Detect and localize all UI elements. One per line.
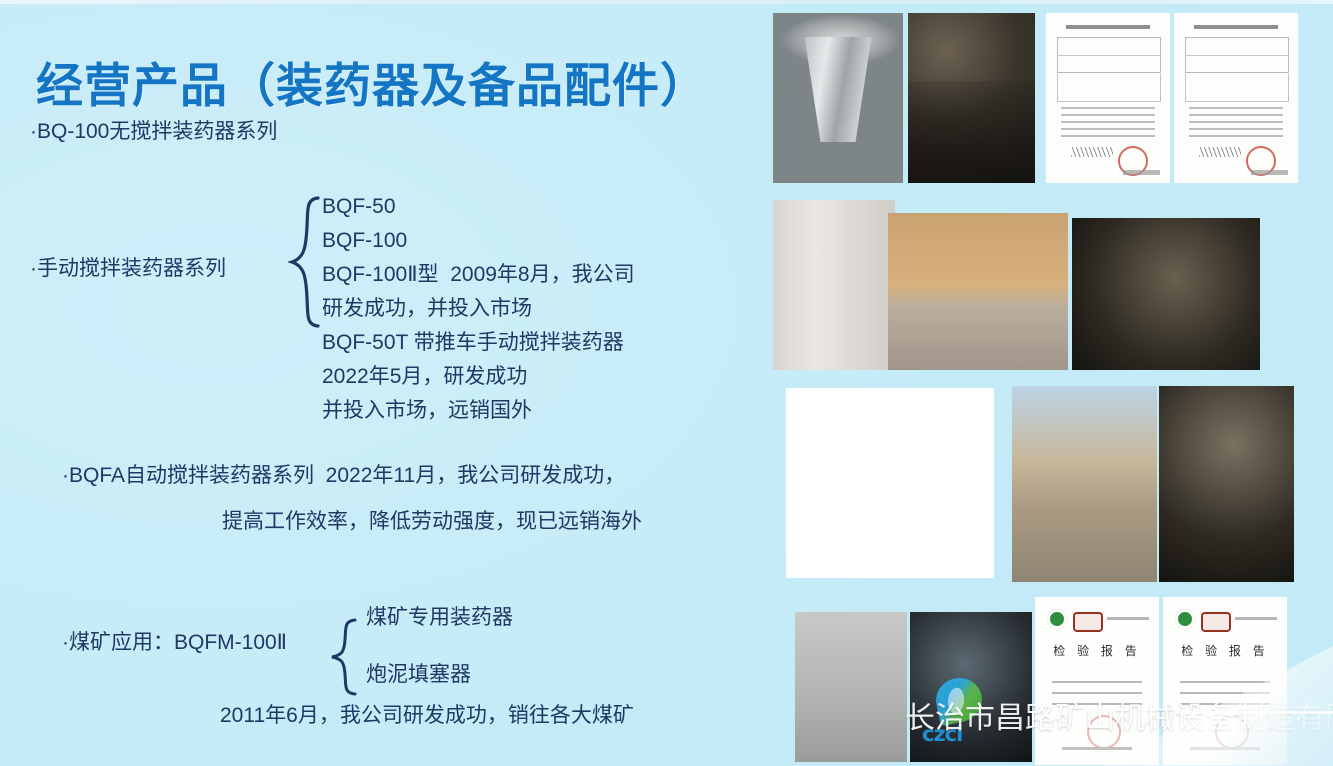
- photo-tunnel-charging-operation: [1159, 386, 1294, 582]
- curly-brace-icon: [288, 196, 322, 328]
- quality-badge-icon: [1175, 609, 1195, 629]
- model-row-7: 并投入市场，远销国外: [322, 400, 532, 421]
- coal-mine-item-2: 炮泥填塞器: [366, 664, 471, 685]
- page-title: 经营产品（装药器及备品配件）: [36, 47, 708, 116]
- model-row-6: 2022年5月，研发成功: [322, 366, 527, 387]
- cma-mark-icon: [1201, 612, 1231, 632]
- text-column: 经营产品（装药器及备品配件） ·BQ-100无搅拌装药器系列 ·手动搅拌装药器系…: [0, 0, 760, 766]
- model-row-4: 研发成功，并投入市场: [322, 298, 532, 319]
- corner-gloss-line: [1183, 711, 1333, 714]
- photo-cart-charger-product-shot: [786, 388, 994, 578]
- certificate-sheet: [1046, 13, 1170, 183]
- auto-mixer-line-2: 提高工作效率，降低劳动强度，现已远销海外: [222, 511, 642, 532]
- photo-grid: 检 验 报 告 检 验 报 告: [760, 0, 1333, 766]
- photo-worker-operating-underground: [1072, 218, 1260, 370]
- photo-worker-with-cart-outdoor: [1012, 386, 1157, 582]
- company-watermark: 长治市昌路矿山机械设备制造有限公司: [905, 693, 1333, 737]
- inspection-report-sheet: 检 验 报 告: [1163, 597, 1287, 765]
- model-row-3: BQF-100Ⅱ型 2009年8月，我公司: [322, 264, 635, 285]
- section-coal-mine: ·煤矿应用：BQFM-100Ⅱ 煤矿专用装药器 炮泥填塞器 2011年6月，我公…: [62, 618, 762, 728]
- coal-mine-item-1: 煤矿专用装药器: [366, 607, 513, 628]
- photo-inspection-report-1: 检 验 报 告: [1035, 597, 1159, 765]
- bullet-bq100: ·BQ-100无搅拌装药器系列: [30, 121, 277, 142]
- coal-mine-label: ·煤矿应用：BQFM-100Ⅱ: [62, 632, 287, 653]
- inspection-report-title: 检 验 报 告: [1163, 642, 1287, 659]
- inspection-report-sheet: 检 验 报 告: [1035, 597, 1159, 765]
- slide: 经营产品（装药器及备品配件） ·BQ-100无搅拌装药器系列 ·手动搅拌装药器系…: [0, 0, 1333, 766]
- inspection-report-title: 检 验 报 告: [1035, 642, 1159, 659]
- certificate-sheet: [1174, 13, 1298, 183]
- photo-mine-workers-tunnel: [908, 13, 1035, 183]
- photo-certificate-document-1: [1046, 13, 1170, 183]
- photo-charging-vessel-workshop: [773, 200, 895, 370]
- auto-mixer-line-1: ·BQFA自动搅拌装药器系列 2022年11月，我公司研发成功，: [62, 465, 625, 486]
- photo-charging-vessel-indoor: [773, 13, 903, 183]
- section-manual-mixer: ·手动搅拌装药器系列 BQF-50 BQF-100 BQF-100Ⅱ型 2009…: [30, 196, 730, 436]
- cma-mark-icon: [1073, 612, 1103, 632]
- quality-badge-icon: [1047, 609, 1067, 629]
- photo-inspection-report-2: 检 验 报 告: [1163, 597, 1287, 765]
- model-row-2: BQF-100: [322, 230, 407, 251]
- model-row-1: BQF-50: [322, 196, 396, 217]
- coal-mine-last-line: 2011年6月，我公司研发成功，销往各大煤矿: [220, 705, 634, 726]
- curly-brace-icon: [329, 618, 359, 696]
- model-row-5: BQF-50T 带推车手动搅拌装药器: [322, 332, 624, 353]
- photo-certificate-document-2: [1174, 13, 1298, 183]
- photo-charging-vessel-factory: [795, 612, 907, 762]
- section-manual-mixer-label: ·手动搅拌装药器系列: [30, 258, 226, 279]
- photo-charging-vessel-with-cart: [888, 213, 1068, 370]
